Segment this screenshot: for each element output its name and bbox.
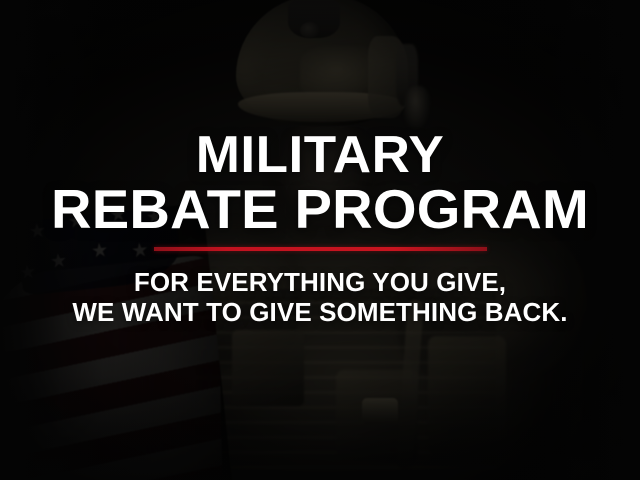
- headline-line-2: REBATE PROGRAM: [0, 183, 640, 236]
- subtitle-line-1: FOR EVERYTHING YOU GIVE,: [72, 267, 567, 297]
- subtitle-line-2: WE WANT TO GIVE SOMETHING BACK.: [72, 297, 567, 327]
- headline-line-1: MILITARY: [0, 131, 640, 181]
- banner-content: MILITARY REBATE PROGRAM FOR EVERYTHING Y…: [0, 0, 640, 480]
- subtitle: FOR EVERYTHING YOU GIVE, WE WANT TO GIVE…: [72, 267, 567, 328]
- military-rebate-banner: ★ ★ ★ ★ ★ ★ ★ ★ MILITARY REBATE PROGRAM …: [0, 0, 640, 480]
- red-divider-rule: [154, 247, 487, 251]
